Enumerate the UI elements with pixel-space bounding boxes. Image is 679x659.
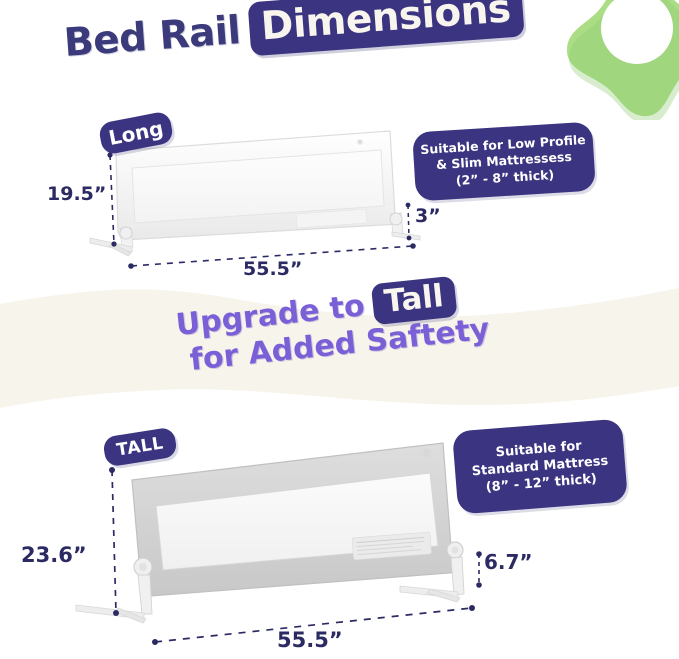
- dimension-label-width-tall: 55.5”: [277, 628, 343, 652]
- pill-badge-tall: TALL: [102, 427, 178, 468]
- tall-height-dimension-line: [109, 467, 119, 616]
- infographic-canvas: Bed Rail Dimensions: [0, 0, 679, 659]
- long-rail-body: [90, 131, 420, 256]
- dimension-label-width-long: 55.5”: [243, 258, 302, 280]
- dimension-label-height-tall: 23.6”: [21, 543, 87, 567]
- long-height-dimension-line: [107, 152, 116, 246]
- pill-badge-long: Long: [98, 110, 175, 155]
- header-badge-text: Dimensions: [247, 0, 524, 56]
- header-plain-text: Bed Rail: [62, 8, 242, 66]
- long-depth-dimension-line: [406, 203, 412, 241]
- callout-standard-mattress: Suitable for Standard Mattress (8” - 12”…: [452, 418, 628, 514]
- dimension-label-depth-long: 3”: [415, 205, 441, 227]
- pill-long-label: Long: [107, 116, 166, 150]
- page-title: Bed Rail Dimensions: [64, 16, 604, 88]
- mid-headline: Upgrade to Tall for Added Saftety: [176, 305, 516, 346]
- pill-tall-label: TALL: [115, 433, 165, 460]
- tall-depth-dimension-line: [476, 551, 482, 588]
- dimension-label-height-long: 19.5”: [47, 183, 106, 205]
- tall-rail-body: [76, 443, 464, 623]
- callout-low-profile: Suitable for Low Profile & Slim Mattress…: [412, 122, 596, 202]
- dimension-label-depth-tall: 6.7”: [484, 550, 533, 574]
